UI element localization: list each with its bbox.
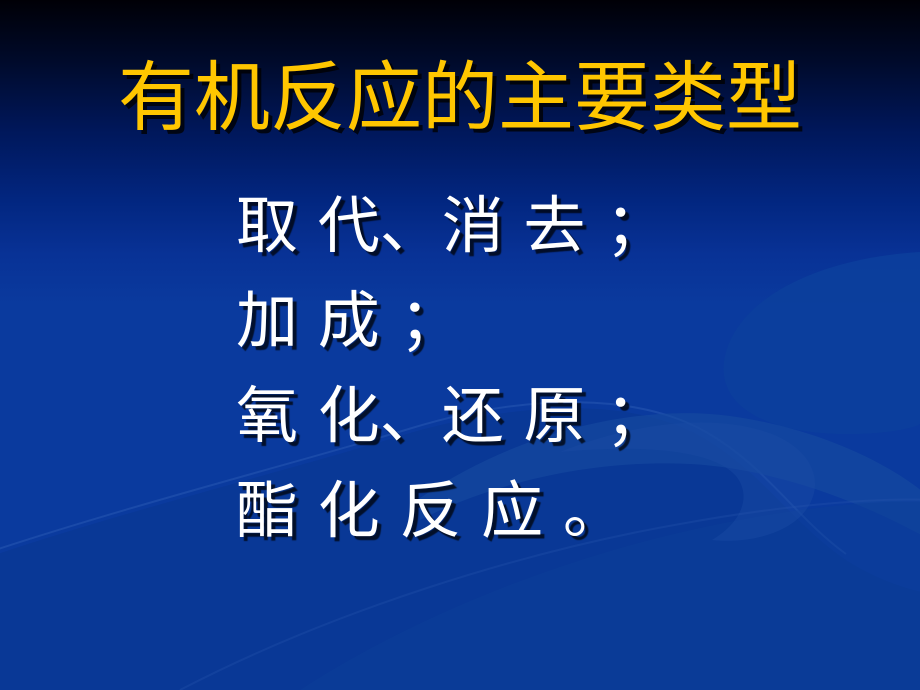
body-line-2: 加 成 ； (236, 273, 896, 368)
body-line-1: 取 代、消 去 ； (236, 178, 896, 273)
body-line-4: 酯 化 反 应 。 (236, 463, 896, 558)
slide-body: 取 代、消 去 ； 加 成 ； 氧 化、还 原 ； 酯 化 反 应 。 (236, 178, 896, 558)
body-line-3: 氧 化、还 原 ； (236, 368, 896, 463)
presentation-slide: 有机反应的主要类型 取 代、消 去 ； 加 成 ； 氧 化、还 原 ； 酯 化 … (0, 0, 920, 690)
slide-title: 有机反应的主要类型 (0, 52, 920, 144)
